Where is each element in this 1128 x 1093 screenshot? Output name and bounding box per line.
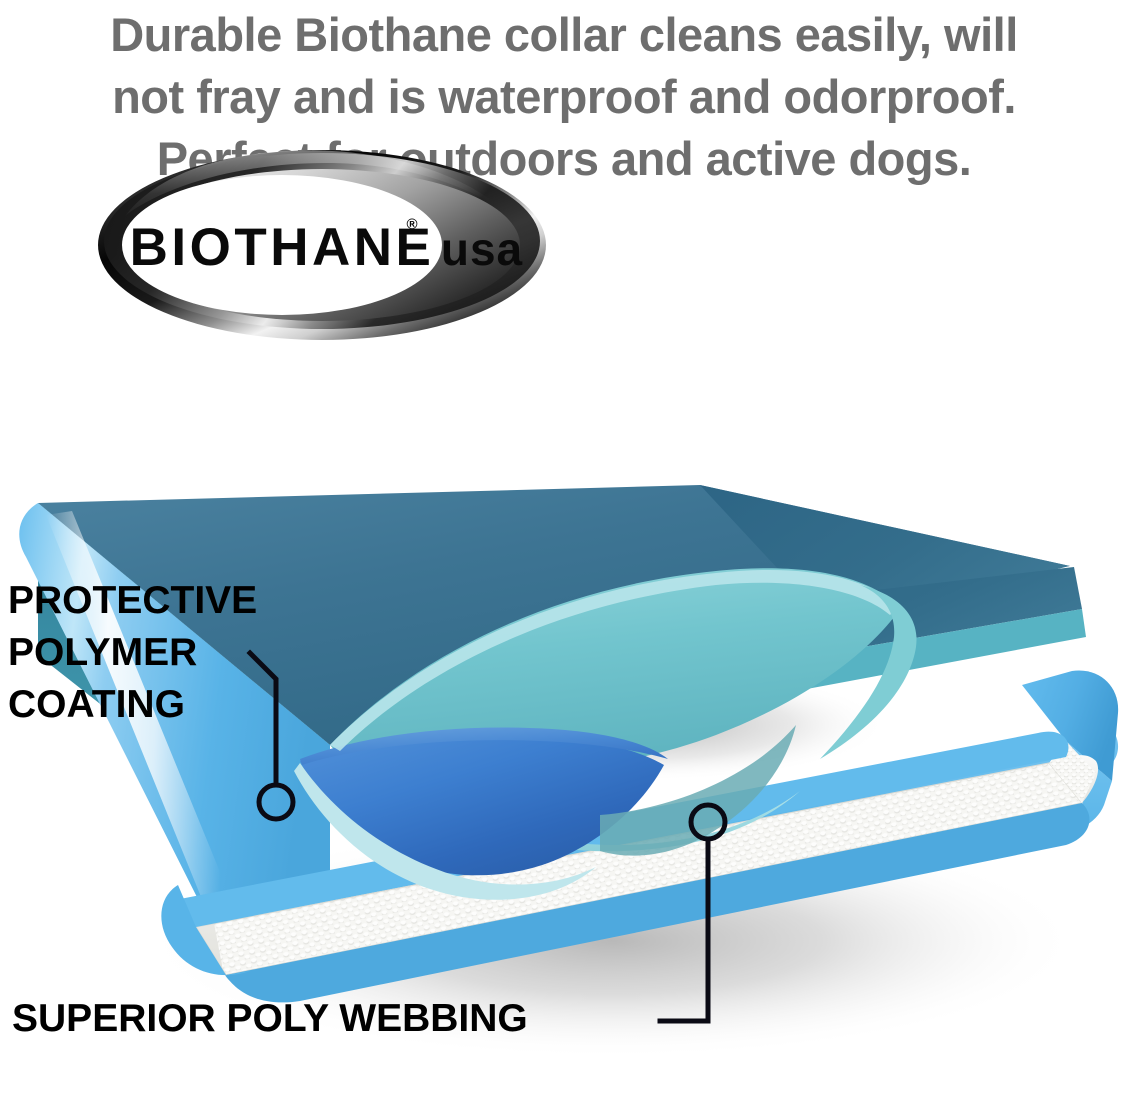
heading-line-1: Durable Biothane collar cleans easily, w… (0, 0, 1128, 66)
heading-line-2: not fray and is waterproof and odorproof… (0, 66, 1128, 128)
biothane-usa-logo: BIOTHANE ® usa (96, 145, 548, 345)
callout-label-protective-polymer-coating: PROTECTIVE POLYMER COATING (8, 575, 257, 731)
logo-registered-mark: ® (406, 216, 417, 233)
callout-label-superior-poly-webbing: SUPERIOR POLY WEBBING (12, 997, 528, 1041)
logo-region-text: usa (441, 223, 523, 275)
product-infographic: Durable Biothane collar cleans easily, w… (0, 0, 1128, 1093)
callout-coating-line-2: POLYMER (8, 627, 257, 679)
biothane-logo-mark: BIOTHANE ® usa (96, 145, 548, 345)
callout-coating-line-3: COATING (8, 679, 257, 731)
logo-brand-text: BIOTHANE (130, 218, 435, 277)
callout-coating-line-1: PROTECTIVE (8, 575, 257, 627)
